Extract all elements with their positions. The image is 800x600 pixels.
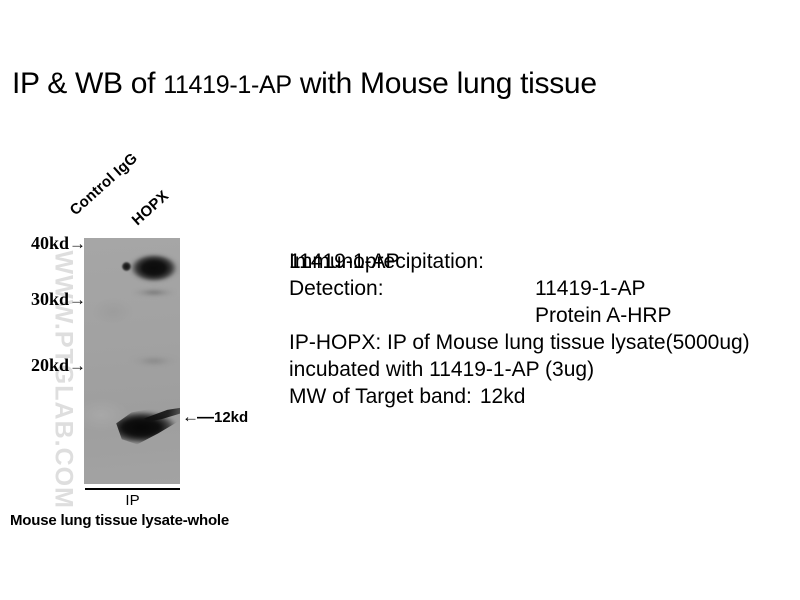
mw-marker-20kd: 20kd→ (12, 356, 86, 375)
band-speck (122, 262, 131, 271)
detail-mw-value: 12kd (480, 383, 526, 410)
detail-mw-label: MW of Target band: (289, 383, 472, 410)
page-title: IP & WB of 11419-1-AP with Mouse lung ti… (12, 64, 792, 104)
lane-label-control-igg: Control IgG (67, 150, 141, 219)
detail-immunoprecipitation: Immunoprecipitation:11419-1-AP (289, 248, 794, 275)
band-faint-upper (132, 288, 176, 297)
figure-caption: Mouse lung tissue lysate-whole (10, 512, 229, 529)
band-faint-middle (130, 356, 178, 366)
detail-detection-secondary: Protein A-HRP (289, 302, 794, 329)
arrow-left-icon: ←— (182, 407, 212, 426)
arrow-right-icon: → (69, 234, 86, 253)
detail-mw-target-band: MW of Target band:12kd (289, 383, 794, 410)
title-antibody-id: 11419-1-AP (163, 71, 292, 99)
experiment-details: Immunoprecipitation:11419-1-AP Detection… (289, 248, 794, 410)
ip-bracket-line (85, 488, 180, 490)
mw-marker-30kd-label: 30kd (31, 289, 69, 309)
detail-detection-secondary-value: Protein A-HRP (535, 302, 672, 329)
detail-detection-value: 11419-1-AP (535, 275, 646, 302)
detail-detection-label: Detection: (289, 275, 535, 302)
mw-marker-20kd-label: 20kd (31, 355, 69, 375)
target-band-callout-label: 12kd (214, 409, 248, 426)
arrow-right-icon: → (69, 356, 86, 375)
detail-immunoprecipitation-value: 11419-1-AP (289, 248, 400, 275)
target-band-callout: ←—12kd (182, 409, 248, 426)
detail-detection: Detection:11419-1-AP (289, 275, 794, 302)
ip-bracket-label: IP (85, 492, 180, 510)
title-prefix: IP & WB of (12, 67, 163, 100)
mw-marker-40kd-label: 40kd (31, 233, 69, 253)
blot-figure: WWW.PTGLAB.COM Control IgG HOPX 40kd→ 30… (0, 150, 290, 550)
arrow-right-icon: → (69, 290, 86, 309)
mw-marker-40kd: 40kd→ (12, 234, 86, 253)
detail-method: IP-HOPX: IP of Mouse lung tissue lysate(… (289, 329, 794, 383)
mw-marker-30kd: 30kd→ (12, 290, 86, 309)
band-heavy-chain (128, 252, 180, 284)
lane-label-hopx: HOPX (129, 187, 173, 229)
blot-membrane (84, 238, 180, 484)
watermark: WWW.PTGLAB.COM (49, 251, 78, 501)
title-suffix: with Mouse lung tissue (292, 67, 597, 100)
